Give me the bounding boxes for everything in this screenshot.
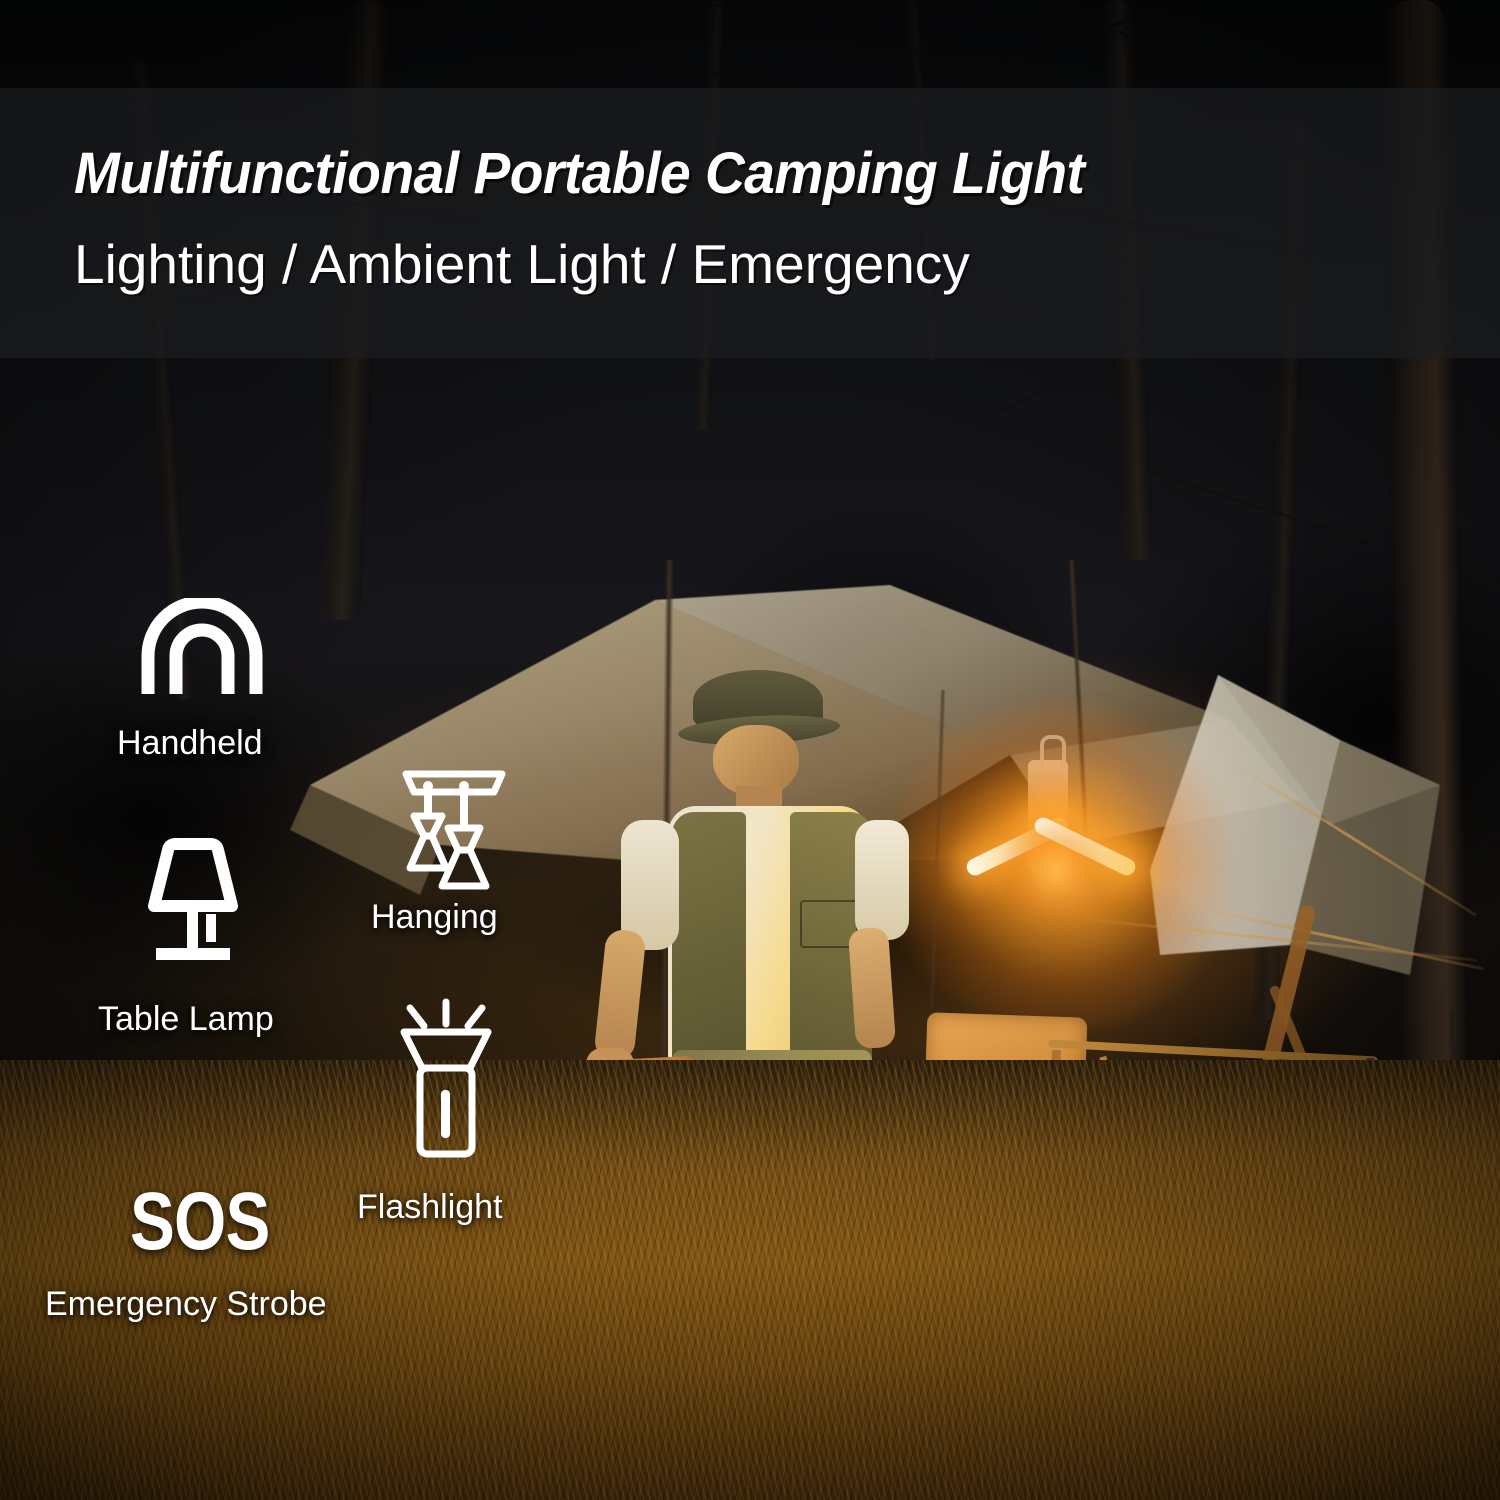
product-marketing-image: Multifunctional Portable Camping Light L… — [0, 0, 1500, 1500]
header-overlay-band — [0, 88, 1500, 358]
feature-table-lamp-label: Table Lamp — [98, 1000, 274, 1039]
flashlight-icon — [392, 996, 500, 1168]
feature-emergency-strobe-label: Emergency Strobe — [45, 1285, 327, 1324]
person-arm-right — [855, 820, 909, 940]
table-lamp-icon — [132, 836, 254, 970]
sos-text-icon: SOS — [130, 1175, 270, 1269]
camping-light-hotspot — [1000, 820, 1110, 920]
handle-arc-icon — [140, 598, 264, 694]
feature-flashlight-label: Flashlight — [357, 1188, 503, 1227]
pendant-lamps-icon — [392, 766, 516, 890]
feature-hanging-label: Hanging — [371, 898, 498, 937]
person-vest-left — [672, 812, 746, 1062]
grass-shadow-left — [0, 1060, 420, 1500]
feature-handheld-label: Handheld — [117, 724, 263, 763]
person-forearm-right — [848, 927, 896, 1049]
page-title: Multifunctional Portable Camping Light — [74, 140, 1084, 207]
page-subtitle: Lighting / Ambient Light / Emergency — [74, 232, 970, 296]
